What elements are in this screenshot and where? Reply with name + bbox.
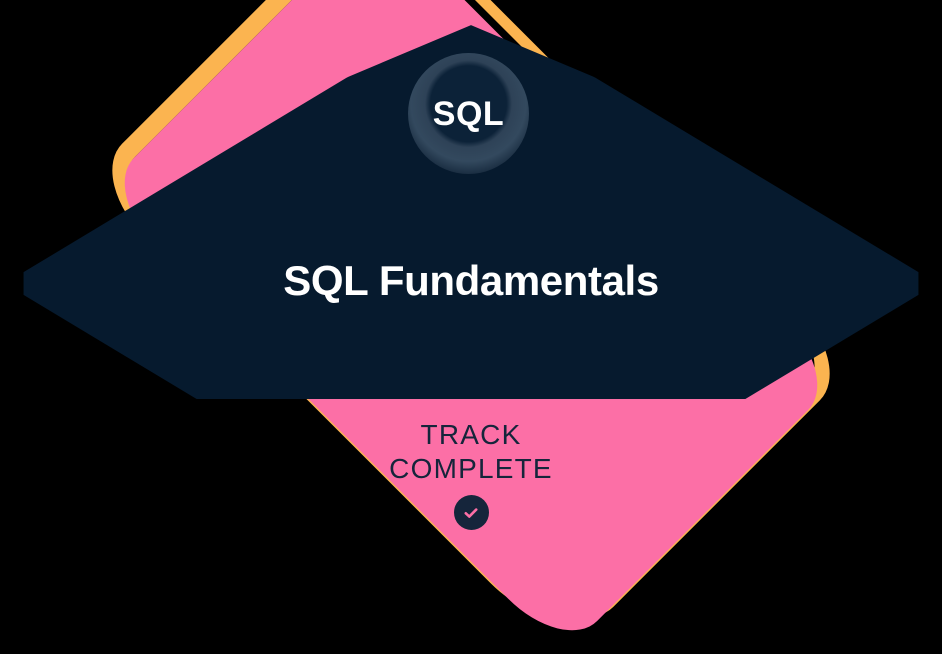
status-line-track: TRACK [0,418,942,452]
check-icon [454,495,489,530]
sql-logo-label: SQL [433,97,504,131]
diamond-content-clip: SQL SQL Fundamentals TRACK COMPLETE [0,0,942,567]
completion-badge: SQL SQL Fundamentals TRACK COMPLETE [0,0,942,567]
sql-logo-badge: SQL [408,53,529,174]
status-line-complete: COMPLETE [0,452,942,486]
completion-status: TRACK COMPLETE [0,418,942,530]
track-title: SQL Fundamentals [0,258,942,304]
